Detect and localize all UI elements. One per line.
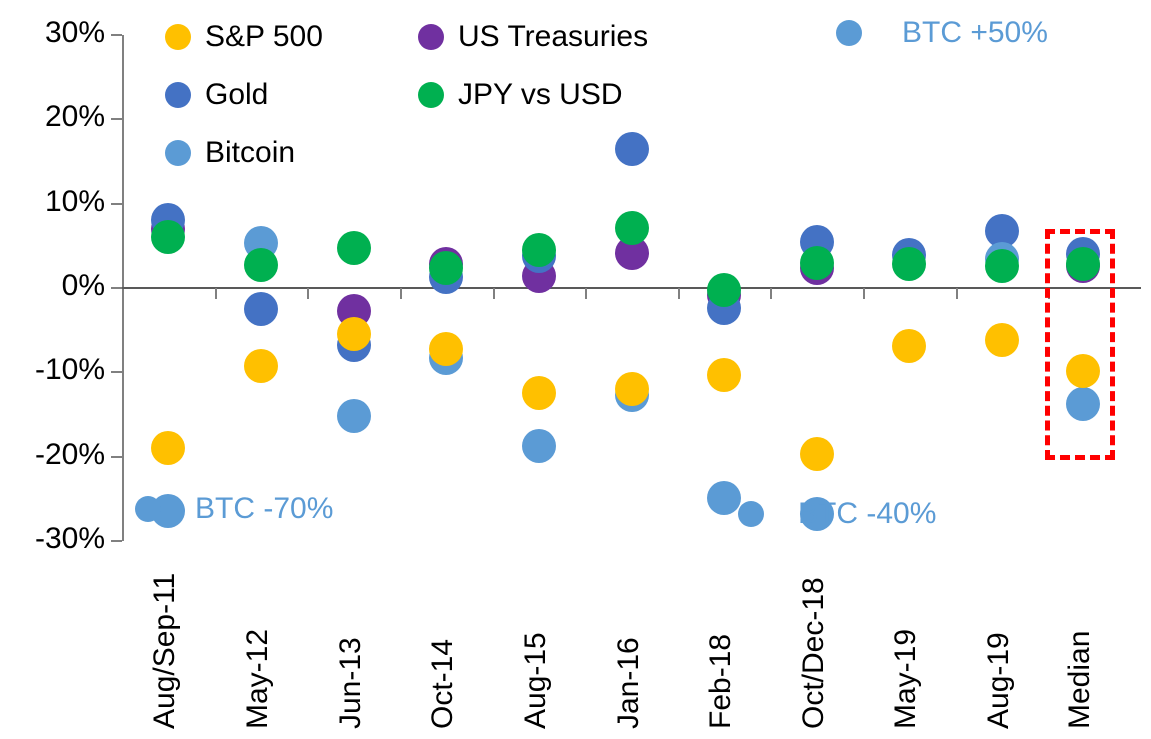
x-axis-category-label: Jun-13 <box>336 637 366 729</box>
x-axis-tick <box>678 288 680 299</box>
annotation-btc-minus-70-label: BTC -70% <box>195 494 333 524</box>
data-point <box>337 399 371 433</box>
legend-item-label: Bitcoin <box>205 138 295 168</box>
chart-container: 30%20%10%0%-10%-20%-30% Aug/Sep-11May-12… <box>0 0 1151 739</box>
legend-marker-icon <box>418 24 444 50</box>
data-point <box>244 292 278 326</box>
annotation-btc-plus-50: BTC +50% <box>836 18 1048 48</box>
data-point <box>985 323 1019 357</box>
x-axis-category-label: Oct-14 <box>428 639 458 729</box>
annotation-btc-plus-50-label: BTC +50% <box>902 18 1048 48</box>
data-point <box>985 249 1019 283</box>
y-axis-label-wrap: -20% <box>0 440 105 470</box>
x-axis-category-label: Aug/Sep-11 <box>150 573 180 729</box>
x-axis-tick <box>493 288 495 299</box>
y-axis-tick <box>111 203 122 205</box>
y-axis-label-wrap: -30% <box>0 524 105 554</box>
legend-item-label: JPY vs USD <box>458 80 623 110</box>
y-axis-label-wrap: 0% <box>0 271 105 301</box>
data-point <box>429 332 463 366</box>
data-point <box>522 429 556 463</box>
y-axis-tick <box>111 456 122 458</box>
y-axis-tick-label: 20% <box>0 102 105 132</box>
annotation-btc-minus-70: BTC -70% <box>135 494 333 524</box>
legend-item-label: US Treasuries <box>458 22 648 52</box>
data-point <box>707 481 741 515</box>
legend-item-bitcoin[interactable]: Bitcoin <box>165 138 295 168</box>
data-point <box>244 349 278 383</box>
legend-item-s-p-500[interactable]: S&P 500 <box>165 22 323 52</box>
y-axis-label-wrap: -10% <box>0 355 105 385</box>
y-axis-tick <box>111 34 122 36</box>
y-axis-tick <box>111 287 122 289</box>
x-axis-tick <box>215 288 217 299</box>
data-point <box>892 329 926 363</box>
data-point <box>615 211 649 245</box>
data-point <box>615 372 649 406</box>
y-axis-tick-label: 0% <box>0 271 105 301</box>
legend-item-label: S&P 500 <box>205 22 323 52</box>
legend-item-label: Gold <box>205 80 268 110</box>
legend-marker-icon <box>165 24 191 50</box>
legend-marker-icon <box>165 140 191 166</box>
data-point <box>800 246 834 280</box>
y-axis-tick-label: -30% <box>0 524 105 554</box>
x-axis-tick <box>307 288 309 299</box>
data-point <box>244 248 278 282</box>
y-axis-label-wrap: 20% <box>0 102 105 132</box>
data-point <box>522 233 556 267</box>
y-axis-label-wrap: 10% <box>0 187 105 217</box>
x-axis-category-label: Aug-15 <box>521 632 551 729</box>
btc-minus-70-dot <box>135 496 161 522</box>
data-point <box>151 431 185 465</box>
x-axis-category-label: Jan-16 <box>614 637 644 729</box>
legend-item-us-treasuries[interactable]: US Treasuries <box>418 22 648 52</box>
y-axis-tick-label: -10% <box>0 355 105 385</box>
x-axis-category-label: Oct/Dec-18 <box>799 577 829 729</box>
x-axis-tick <box>863 288 865 299</box>
y-axis-label-wrap: 30% <box>0 18 105 48</box>
y-axis-tick <box>111 118 122 120</box>
annotation-btc-minus-40: BTC -40% <box>738 499 936 529</box>
x-axis-category-label: Aug-19 <box>984 632 1014 729</box>
y-axis-tick-label: -20% <box>0 440 105 470</box>
data-point <box>1066 247 1100 281</box>
y-axis-tick-label: 10% <box>0 187 105 217</box>
data-point <box>337 231 371 265</box>
x-axis-tick <box>400 288 402 299</box>
btc-plus-50-dot <box>836 20 862 46</box>
data-point <box>429 251 463 285</box>
x-axis-category-label: May-12 <box>243 629 273 729</box>
x-axis-category-label: Feb-18 <box>706 634 736 729</box>
y-axis-tick <box>111 371 122 373</box>
x-axis-category-label: Median <box>1065 631 1095 729</box>
data-point <box>522 376 556 410</box>
zero-baseline <box>122 287 1141 289</box>
data-point <box>337 317 371 351</box>
data-point <box>800 437 834 471</box>
y-axis-tick-label: 30% <box>0 18 105 48</box>
data-point <box>892 247 926 281</box>
x-axis-tick <box>585 288 587 299</box>
annotation-btc-minus-40-label: BTC -40% <box>798 499 936 529</box>
data-point <box>707 273 741 307</box>
x-axis-tick <box>956 288 958 299</box>
y-axis-tick <box>111 540 122 542</box>
legend-item-gold[interactable]: Gold <box>165 80 268 110</box>
data-point <box>615 132 649 166</box>
legend-marker-icon <box>165 82 191 108</box>
btc-minus-40-dot <box>738 501 764 527</box>
data-point <box>707 358 741 392</box>
legend-item-jpy-vs-usd[interactable]: JPY vs USD <box>418 80 623 110</box>
x-axis-category-label: May-19 <box>891 629 921 729</box>
data-point <box>151 220 185 254</box>
legend-marker-icon <box>418 82 444 108</box>
data-point <box>1066 354 1100 388</box>
x-axis-tick <box>770 288 772 299</box>
